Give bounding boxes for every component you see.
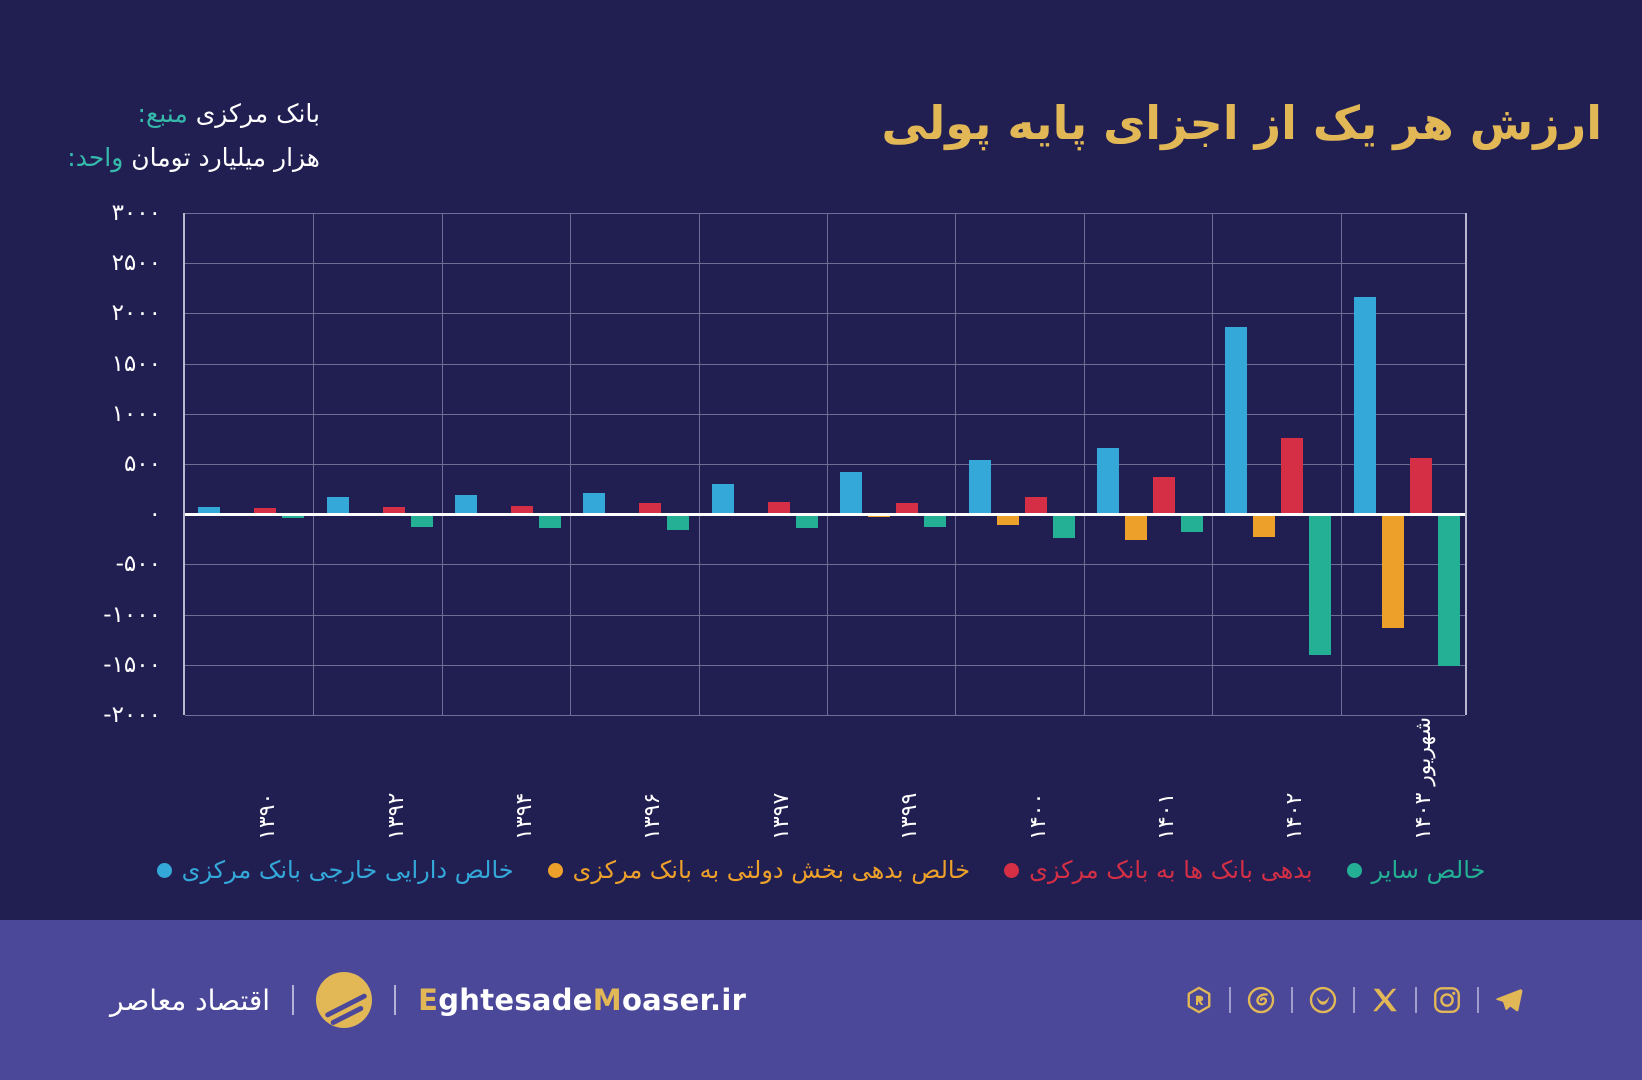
chart-meta: بانک مرکزی منبع: هزار میلیارد تومان واحد…: [0, 92, 320, 180]
unit-value: هزار میلیارد تومان: [131, 143, 320, 172]
brand-divider-1: [292, 985, 294, 1015]
unit-label: واحد:: [67, 143, 123, 172]
bar-group: [827, 213, 955, 715]
y-axis-tick-label: ۲۵۰۰: [112, 250, 161, 276]
bar[interactable]: [997, 514, 1019, 525]
bar[interactable]: [1354, 297, 1376, 514]
zero-baseline: [185, 513, 1465, 516]
source-value: بانک مرکزی: [196, 99, 320, 128]
bar[interactable]: [1153, 477, 1175, 515]
bar-group: [1212, 213, 1340, 715]
brand-block: اقتصاد معاصر EghtesadeMoaser.ir: [110, 972, 746, 1028]
eitaa-icon[interactable]: [1238, 977, 1284, 1023]
y-axis-tick-label: ۰: [149, 501, 161, 527]
x-axis-tick-label: ۱۴۰۰: [1026, 793, 1051, 840]
x-axis-tick-label: ۱۴۰۲: [1282, 793, 1307, 840]
brand-name-fa: اقتصاد معاصر: [110, 984, 270, 1017]
bar-group: [1341, 213, 1469, 715]
bar-group: [699, 213, 827, 715]
brand-en-m1: ghtesade: [438, 983, 593, 1017]
bar[interactable]: [1253, 514, 1275, 537]
bar[interactable]: [411, 514, 433, 527]
bar[interactable]: [327, 497, 349, 515]
legend-color-swatch: [548, 863, 563, 878]
legend-color-swatch: [1004, 863, 1019, 878]
bar-group: [185, 213, 313, 715]
legend-item[interactable]: خالص بدهی بخش دولتی به بانک مرکزی: [548, 856, 970, 884]
bar-group: [1084, 213, 1212, 715]
brand-en-tld: .ir: [710, 983, 746, 1017]
bar[interactable]: [1382, 514, 1404, 628]
y-axis-tick-label: ۲۰۰۰: [112, 300, 161, 326]
bar[interactable]: [1225, 327, 1247, 514]
bar[interactable]: [1281, 438, 1303, 514]
social-links: [1176, 977, 1532, 1023]
y-axis-tick-label: ۳۰۰۰: [112, 200, 161, 226]
bar[interactable]: [1025, 497, 1047, 515]
social-divider: [1415, 987, 1417, 1013]
x-axis-tick-label: ۱۴۰۱: [1154, 793, 1179, 840]
bar-group: [570, 213, 698, 715]
bar-group: [313, 213, 441, 715]
source-line: بانک مرکزی منبع:: [0, 92, 320, 136]
legend-color-swatch: [157, 863, 172, 878]
legend-item[interactable]: خالص دارایی خارجی بانک مرکزی: [157, 856, 514, 884]
social-divider: [1229, 987, 1231, 1013]
bar[interactable]: [667, 514, 689, 530]
y-axis-tick-label: -۲۰۰۰: [103, 702, 161, 728]
page-title: ارزش هر یک از اجزای پایه پولی: [822, 95, 1602, 153]
bar[interactable]: [712, 484, 734, 514]
bars-layer: [185, 213, 1465, 715]
bar[interactable]: [969, 460, 991, 514]
bar[interactable]: [924, 514, 946, 527]
y-axis-tick-label: ۱۵۰۰: [112, 351, 161, 377]
y-axis-tick-label: -۱۰۰۰: [103, 602, 161, 628]
social-divider: [1353, 987, 1355, 1013]
bar[interactable]: [796, 514, 818, 528]
header: ارزش هر یک از اجزای پایه پولی بانک مرکزی…: [0, 0, 1642, 200]
y-axis-tick-label: ۵۰۰: [124, 451, 161, 477]
brand-en-h1: E: [418, 983, 438, 1017]
social-divider: [1291, 987, 1293, 1013]
bale-icon[interactable]: [1300, 977, 1346, 1023]
bar[interactable]: [840, 472, 862, 515]
x-axis-tick-label: شهریور ۱۴۰۳: [1411, 717, 1436, 840]
brand-en-h2: M: [593, 983, 622, 1017]
x-axis: ۱۳۹۰۱۳۹۲۱۳۹۴۱۳۹۶۱۳۹۷۱۳۹۹۱۴۰۰۱۴۰۱۱۴۰۲شهری…: [183, 715, 1467, 845]
bar[interactable]: [455, 495, 477, 514]
x-axis-tick-label: ۱۳۹۹: [897, 793, 922, 840]
bar[interactable]: [1053, 514, 1075, 538]
y-axis: ۳۰۰۰۲۵۰۰۲۰۰۰۱۵۰۰۱۰۰۰۵۰۰۰-۵۰۰-۱۰۰۰-۱۵۰۰-۲…: [0, 213, 175, 715]
x-axis-tick-label: ۱۳۹۷: [769, 793, 794, 840]
x-axis-tick-label: ۱۳۹۲: [384, 793, 409, 840]
legend-color-swatch: [1347, 863, 1362, 878]
y-axis-tick-label: -۱۵۰۰: [103, 652, 161, 678]
source-label: منبع:: [138, 99, 188, 128]
chart-legend: خالص دارایی خارجی بانک مرکزیخالص بدهی بخ…: [0, 845, 1642, 895]
y-axis-tick-label: -۵۰۰: [116, 551, 161, 577]
bar[interactable]: [583, 493, 605, 515]
bar[interactable]: [1309, 514, 1331, 655]
plot-area: [183, 213, 1467, 715]
x-icon[interactable]: [1362, 977, 1408, 1023]
x-axis-tick-label: ۱۳۹۰: [255, 793, 280, 840]
legend-label: بدهی بانک ها به بانک مرکزی: [1029, 856, 1312, 884]
legend-item[interactable]: بدهی بانک ها به بانک مرکزی: [1004, 856, 1312, 884]
bar-group: [955, 213, 1083, 715]
y-axis-tick-label: ۱۰۰۰: [112, 401, 161, 427]
bar[interactable]: [539, 514, 561, 528]
x-axis-tick-label: ۱۳۹۶: [640, 793, 665, 840]
instagram-icon[interactable]: [1424, 977, 1470, 1023]
bar[interactable]: [1410, 458, 1432, 514]
rubika-icon[interactable]: [1176, 977, 1222, 1023]
telegram-icon[interactable]: [1486, 977, 1532, 1023]
footer: اقتصاد معاصر EghtesadeMoaser.ir: [0, 920, 1642, 1080]
bar[interactable]: [1125, 514, 1147, 540]
legend-label: خالص بدهی بخش دولتی به بانک مرکزی: [573, 856, 970, 884]
legend-item[interactable]: خالص سایر: [1347, 856, 1486, 884]
brand-divider-2: [394, 985, 396, 1015]
bar-group: [442, 213, 570, 715]
brand-logo-icon: [316, 972, 372, 1028]
legend-label: خالص دارایی خارجی بانک مرکزی: [182, 856, 514, 884]
x-axis-tick-label: ۱۳۹۴: [512, 793, 537, 840]
unit-line: هزار میلیارد تومان واحد:: [0, 136, 320, 180]
bar[interactable]: [1181, 514, 1203, 532]
legend-label: خالص سایر: [1372, 856, 1486, 884]
bar[interactable]: [1438, 514, 1460, 666]
social-divider: [1477, 987, 1479, 1013]
brand-en-m2: oaser: [622, 983, 710, 1017]
brand-website[interactable]: EghtesadeMoaser.ir: [418, 983, 746, 1017]
bar[interactable]: [1097, 448, 1119, 514]
